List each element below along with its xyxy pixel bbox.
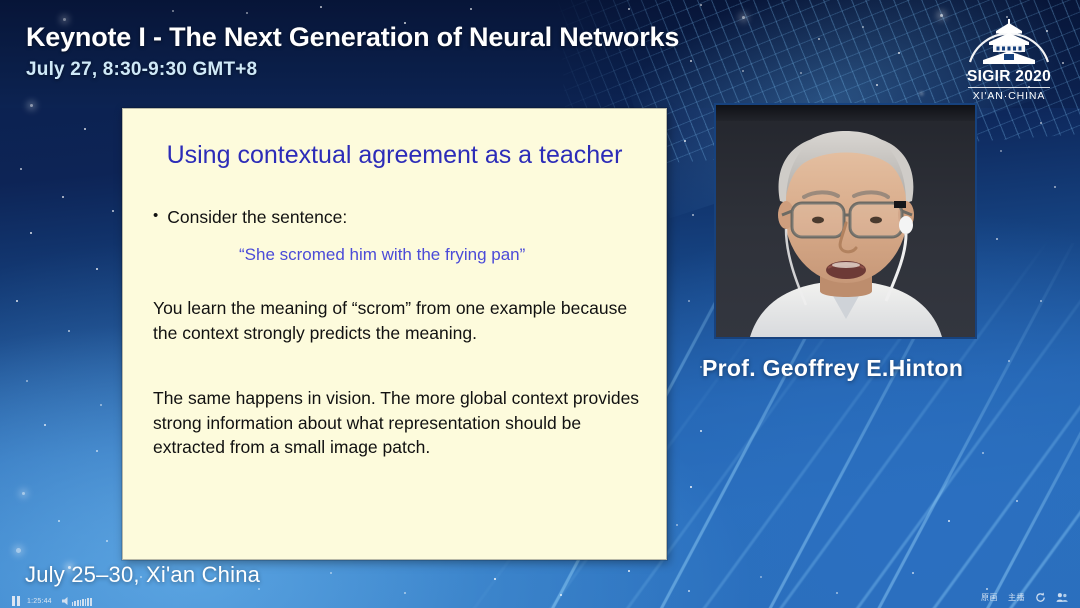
stream-source-button[interactable]: 主播 <box>1008 594 1025 602</box>
stream-controls[interactable]: 原画 主播 <box>981 592 1068 603</box>
slide-paragraph-2: The same happens in vision. The more glo… <box>153 386 644 461</box>
slide-panel: Using contextual agreement as a teacher … <box>122 108 667 560</box>
page-title: Keynote I - The Next Generation of Neura… <box>26 22 679 53</box>
speaker-name: Prof. Geoffrey E.Hinton <box>702 355 963 382</box>
slide-bullet-text: Consider the sentence: <box>167 205 347 230</box>
speaker-video[interactable] <box>714 103 977 339</box>
stream-quality-button[interactable]: 原画 <box>981 594 998 602</box>
video-player-controls[interactable]: 1:25:44 <box>12 596 92 606</box>
logo-city: XI'AN·CHINA <box>956 91 1062 102</box>
slide-bullet-item: • Consider the sentence: <box>153 205 644 230</box>
playback-time: 1:25:44 <box>27 598 52 605</box>
volume-level-bars[interactable] <box>72 598 92 606</box>
slide-title: Using contextual agreement as a teacher <box>123 141 666 170</box>
slide-body: • Consider the sentence: “She scromed hi… <box>153 205 644 460</box>
session-time: July 27, 8:30-9:30 GMT+8 <box>26 59 679 81</box>
header: Keynote I - The Next Generation of Neura… <box>26 22 679 81</box>
volume-icon[interactable] <box>62 596 92 606</box>
pagoda-tower-icon <box>956 12 1062 70</box>
event-dates: July 25–30, Xi'an China <box>25 562 260 588</box>
refresh-icon[interactable] <box>1035 592 1046 603</box>
speaker-video-frame <box>716 105 975 337</box>
slide-paragraph-1: You learn the meaning of “scrom” from on… <box>153 296 644 346</box>
viewers-icon[interactable] <box>1056 592 1068 603</box>
sigir-logo: SIGIR 2020 XI'AN·CHINA <box>956 12 1062 104</box>
logo-name: SIGIR 2020 <box>956 69 1062 85</box>
pause-icon[interactable] <box>12 596 20 606</box>
logo-divider <box>968 87 1050 88</box>
slide-quote: “She scromed him with the frying pan” <box>239 243 644 267</box>
bullet-dot-icon: • <box>153 205 158 228</box>
presentation-stage: Keynote I - The Next Generation of Neura… <box>0 0 1080 608</box>
